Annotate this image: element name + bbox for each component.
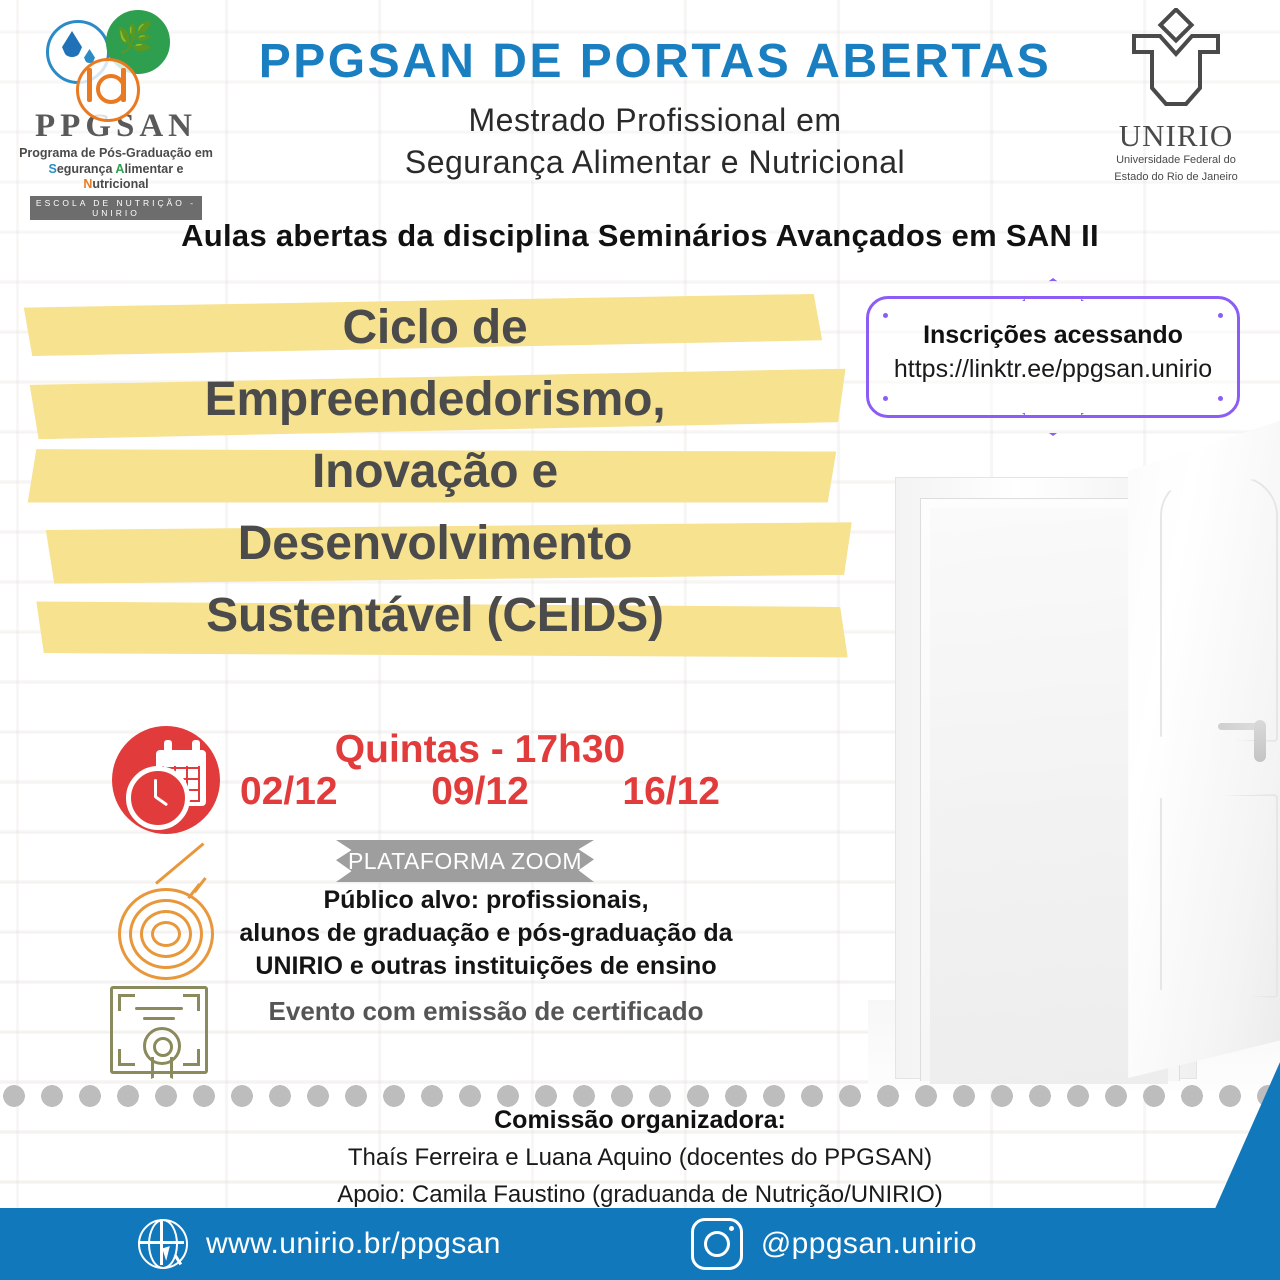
certificate-text-line [143, 1017, 175, 1020]
credits-heading: Comissão organizadora: [0, 1106, 1280, 1135]
ppgsan-logo: 🌿 PPGSAN Programa de Pós-Graduação em Se… [18, 4, 214, 190]
unirio-wordmark: UNIRIO [1096, 120, 1256, 151]
event-title-block: Ciclo de Empreendedorismo, Inovação e De… [10, 292, 860, 667]
credits-line-1: Thaís Ferreira e Luana Aquino (docentes … [0, 1144, 1280, 1172]
certificate-corner [118, 994, 135, 1011]
certificate-corner [118, 1049, 135, 1066]
unirio-mark-icon [1096, 8, 1256, 120]
registration-url[interactable]: https://linktr.ee/ppgsan.unirio [869, 355, 1237, 384]
website-link[interactable]: www.unirio.br/ppgsan [138, 1219, 501, 1269]
credits-line-2: Apoio: Camila Faustino (graduanda de Nut… [0, 1181, 1280, 1209]
callout-dot-icon [883, 396, 888, 401]
page-title: PPGSAN DE PORTAS ABERTAS [230, 34, 1080, 89]
audience-line-2: alunos de graduação e pós-graduação da [226, 917, 746, 950]
instagram-label: @ppgsan.unirio [761, 1227, 977, 1261]
door-handle-lever [1218, 723, 1258, 730]
credits-block: Comissão organizadora: Thaís Ferreira e … [0, 1106, 1280, 1209]
event-title-line: Inovação e [10, 436, 860, 508]
certificate-ribbon-icon [151, 1057, 173, 1079]
callout-notch-top-icon [1022, 278, 1084, 301]
instagram-dot [729, 1226, 734, 1231]
door-panel-top [1160, 476, 1278, 742]
certificate-text: Evento com emissão de certificado [226, 996, 746, 1027]
cutlery-glyph [84, 66, 128, 108]
unirio-subtitle-1: Universidade Federal do [1096, 154, 1256, 168]
ppgsan-program-line: Programa de Pós-Graduação em [18, 146, 214, 162]
registration-callout[interactable]: Inscrições acessando https://linktr.ee/p… [866, 296, 1240, 418]
globe-ellipse [148, 1219, 178, 1269]
page-subtitle-line1: Mestrado Profissional em [230, 100, 1080, 142]
unirio-u-shield-icon [1096, 8, 1256, 120]
discipline-banner: Aulas abertas da disciplina Seminários A… [0, 218, 1280, 254]
instagram-lens [704, 1231, 730, 1257]
door-handle-plate [1254, 720, 1266, 762]
event-title-text: Ciclo de Empreendedorismo, Inovação e De… [10, 292, 860, 652]
certificate-seal-inner [153, 1037, 173, 1057]
ppgsan-program-line2: Segurança Alimentar e Nutricional [18, 162, 214, 193]
instagram-link[interactable]: @ppgsan.unirio [691, 1218, 977, 1270]
schedule-time: Quintas - 17h30 [230, 728, 730, 772]
event-title-line: Desenvolvimento [10, 508, 860, 580]
audience-text: Público alvo: profissionais, alunos de g… [226, 884, 746, 983]
open-door-illustration [868, 418, 1280, 1090]
clock-icon [126, 766, 190, 830]
callout-dot-icon [883, 313, 888, 318]
page-subtitle-line2: Segurança Alimentar e Nutricional [230, 142, 1080, 184]
target-arrow-icon [112, 872, 228, 984]
event-title-line: Empreendedorismo, [10, 364, 860, 436]
door-panel-bottom [1160, 794, 1278, 998]
target-ring [151, 921, 181, 947]
unirio-logo: UNIRIO Universidade Federal do Estado do… [1096, 8, 1256, 185]
website-label: www.unirio.br/ppgsan [206, 1227, 501, 1261]
schedule-date: 09/12 [431, 770, 529, 814]
leaf-glyph: 🌿 [115, 20, 155, 58]
schedule-date: 16/12 [622, 770, 720, 814]
callout-dot-icon [1218, 313, 1223, 318]
ppgsan-logo-icons: 🌿 [18, 4, 214, 112]
registration-heading: Inscrições acessando [869, 321, 1237, 350]
callout-dot-icon [1218, 396, 1223, 401]
certificate-corner [183, 994, 200, 1011]
certificate-corner [183, 1049, 200, 1066]
schedule-date: 02/12 [240, 770, 338, 814]
knife-glyph [121, 68, 126, 102]
fork-glyph [87, 68, 92, 102]
event-title-line: Sustentável (CEIDS) [10, 580, 860, 652]
arrow-shaft-icon [155, 842, 204, 884]
instagram-icon [691, 1218, 743, 1270]
platform-label: PLATAFORMA ZOOM [336, 840, 594, 882]
calendar-clock-icon [112, 726, 220, 834]
audience-line-1: Público alvo: profissionais, [226, 884, 746, 917]
ppgsan-school-strip: ESCOLA DE NUTRIÇÃO - UNIRIO [30, 196, 202, 220]
unirio-subtitle-2: Estado do Rio de Janeiro [1096, 171, 1256, 185]
certificate-icon [110, 986, 208, 1074]
event-title-line: Ciclo de [10, 292, 860, 364]
globe-cursor-icon [138, 1219, 188, 1269]
audience-line-3: UNIRIO e outras instituições de ensino [226, 950, 746, 983]
schedule-dates: 02/12 09/12 16/12 [230, 770, 730, 814]
page-subtitle: Mestrado Profissional em Segurança Alime… [230, 100, 1080, 183]
footer-bar: www.unirio.br/ppgsan @ppgsan.unirio [0, 1208, 1280, 1280]
certificate-text-line [135, 1007, 183, 1010]
poster-canvas: 🌿 PPGSAN Programa de Pós-Graduação em Se… [0, 0, 1280, 1280]
